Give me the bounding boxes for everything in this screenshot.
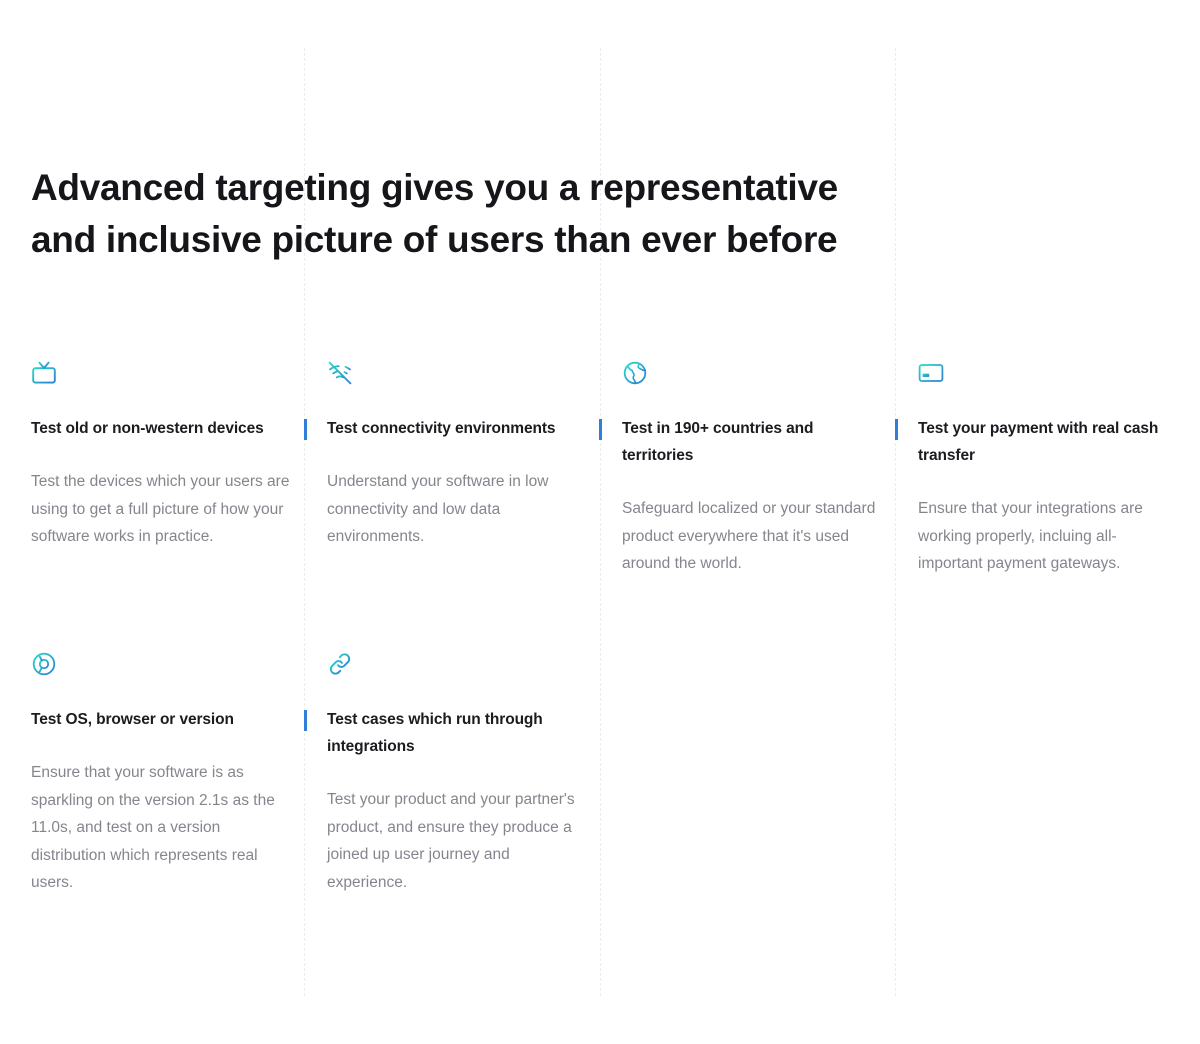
feature-description: Ensure that your software is as sparklin… bbox=[31, 759, 293, 897]
globe-icon bbox=[622, 360, 648, 386]
feature-title: Test cases which run through integration… bbox=[327, 706, 589, 760]
feature-section: Advanced targeting gives you a represent… bbox=[0, 0, 1200, 1044]
feature-row-2: Test OS, browser or version Ensure that … bbox=[0, 651, 1200, 951]
feature-card-test-os-browser: Test OS, browser or version Ensure that … bbox=[31, 651, 293, 897]
credit-card-icon bbox=[918, 360, 944, 386]
feature-card-test-connectivity: Test connectivity environments Understan… bbox=[327, 360, 589, 551]
page-title: Advanced targeting gives you a represent… bbox=[31, 162, 891, 266]
feature-card-test-countries: Test in 190+ countries and territories S… bbox=[622, 360, 884, 578]
feature-title: Test old or non-western devices bbox=[31, 415, 293, 442]
feature-description: Test your product and your partner's pro… bbox=[327, 786, 589, 896]
feature-title: Test your payment with real cash transfe… bbox=[918, 415, 1180, 469]
feature-row-1: Test old or non-western devices Test the… bbox=[0, 360, 1200, 651]
link-chain-icon bbox=[327, 651, 353, 677]
feature-description: Safeguard localized or your standard pro… bbox=[622, 495, 884, 578]
feature-description: Ensure that your integrations are workin… bbox=[918, 495, 1180, 578]
feature-card-test-integrations: Test cases which run through integration… bbox=[327, 651, 589, 896]
wifi-off-icon bbox=[327, 360, 353, 386]
title-accent-bar bbox=[304, 419, 307, 440]
feature-description: Test the devices which your users are us… bbox=[31, 468, 293, 551]
title-accent-bar bbox=[895, 419, 898, 440]
feature-description: Understand your software in low connecti… bbox=[327, 468, 589, 551]
feature-card-test-payment: Test your payment with real cash transfe… bbox=[918, 360, 1180, 578]
browser-chrome-icon bbox=[31, 651, 57, 677]
feature-title: Test OS, browser or version bbox=[31, 706, 293, 733]
feature-grid: Test old or non-western devices Test the… bbox=[0, 360, 1200, 951]
feature-title: Test in 190+ countries and territories bbox=[622, 415, 884, 469]
feature-title: Test connectivity environments bbox=[327, 415, 589, 442]
feature-card-test-old-devices: Test old or non-western devices Test the… bbox=[31, 360, 293, 551]
tv-icon bbox=[31, 360, 57, 386]
title-accent-bar bbox=[599, 419, 602, 440]
title-accent-bar bbox=[304, 710, 307, 731]
